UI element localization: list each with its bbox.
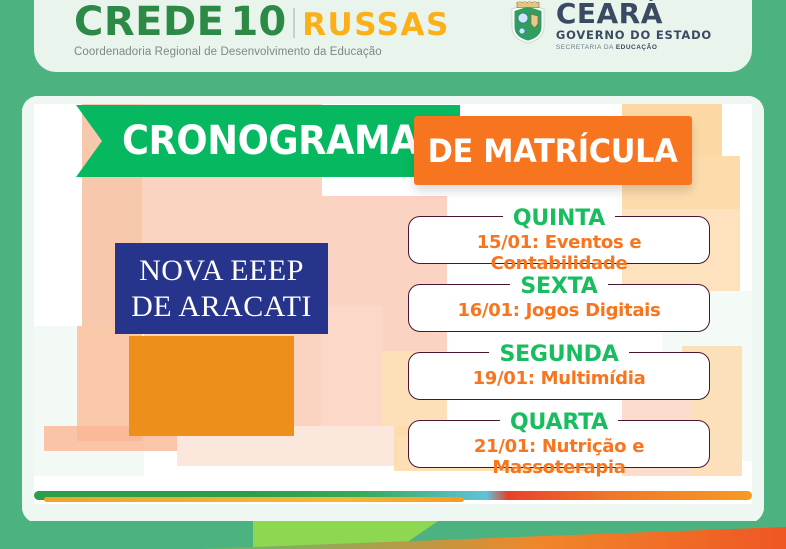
ceara-coat-of-arms-icon (509, 1, 547, 50)
crede-wordmark: CREDE (74, 0, 225, 45)
schedule-item-entry: 15/01: Eventos e Contabilidade (408, 232, 710, 274)
ceara-secretariat-label: SECRETARIA DA EDUCAÇÃO (556, 45, 712, 52)
schedule-item-day: QUINTA (394, 206, 724, 231)
crede-logo: CREDE10RUSSAS Coordenadoria Regional de … (74, 2, 414, 58)
schedule-day-label: SEXTA (510, 274, 607, 299)
schedule-item-entry: 16/01: Jogos Digitais (408, 300, 710, 321)
crede-city: RUSSAS (302, 7, 450, 43)
footer-band (0, 521, 786, 549)
title-main: CRONOGRAMA (122, 118, 418, 164)
school-name-box: NOVA EEEP DE ARACATI (115, 243, 328, 334)
poster-canvas: CREDE10RUSSAS Coordenadoria Regional de … (0, 0, 786, 549)
crede-divider (293, 8, 295, 38)
title-banner-orange: DE MATRÍCULA (414, 116, 692, 185)
decorative-stripe (22, 491, 764, 505)
schedule-day-label: SEGUNDA (489, 342, 628, 367)
schedule-item[interactable]: SEGUNDA 19/01: Multimídia (394, 342, 724, 394)
schedule-item[interactable]: QUINTA 15/01: Eventos e Contabilidade (394, 206, 724, 258)
decor-block-peach-5 (322, 306, 382, 436)
schedule-item-entry: 19/01: Multimídia (408, 368, 710, 389)
ceara-government-logo: CEARÁ GOVERNO DO ESTADO SECRETARIA DA ED… (509, 0, 712, 51)
ceara-secretariat-prefix: SECRETARIA DA (556, 44, 616, 51)
title-highlight: DE MATRÍCULA (428, 132, 678, 170)
ceara-government-label: GOVERNO DO ESTADO (556, 30, 712, 42)
schedule-day-label: QUARTA (500, 410, 618, 435)
crede-subtitle: Coordenadoria Regional de Desenvolviment… (74, 46, 414, 58)
schedule-list: QUINTA 15/01: Eventos e Contabilidade SE… (394, 206, 724, 478)
schedule-item-entry: 21/01: Nutrição e Massoterapia (408, 436, 710, 478)
school-name-line-2: DE ARACATI (131, 289, 312, 324)
ceara-logo-text: CEARÁ GOVERNO DO ESTADO SECRETARIA DA ED… (556, 0, 712, 51)
ceara-wordmark: CEARÁ (556, 0, 712, 28)
crede-number: 10 (231, 0, 287, 45)
header-card: CREDE10RUSSAS Coordenadoria Regional de … (34, 0, 752, 72)
schedule-item-day: QUARTA (394, 410, 724, 435)
schedule-item-day: SEGUNDA (394, 342, 724, 367)
decor-block-orange-main (129, 336, 294, 436)
schedule-item-day: SEXTA (394, 274, 724, 299)
schedule-day-label: QUINTA (503, 206, 615, 231)
title-banner-green: CRONOGRAMA (76, 105, 460, 177)
content-card: CRONOGRAMA DE MATRÍCULA NOVA EEEP DE ARA… (22, 96, 764, 523)
school-name-line-1: NOVA EEEP (139, 253, 304, 288)
crede-logo-line: CREDE10RUSSAS (74, 2, 414, 42)
schedule-item[interactable]: QUARTA 21/01: Nutrição e Massoterapia (394, 410, 724, 462)
ceara-secretariat-strong: EDUCAÇÃO (616, 44, 658, 51)
schedule-item[interactable]: SEXTA 16/01: Jogos Digitais (394, 274, 724, 326)
stripe-secondary (44, 497, 464, 502)
